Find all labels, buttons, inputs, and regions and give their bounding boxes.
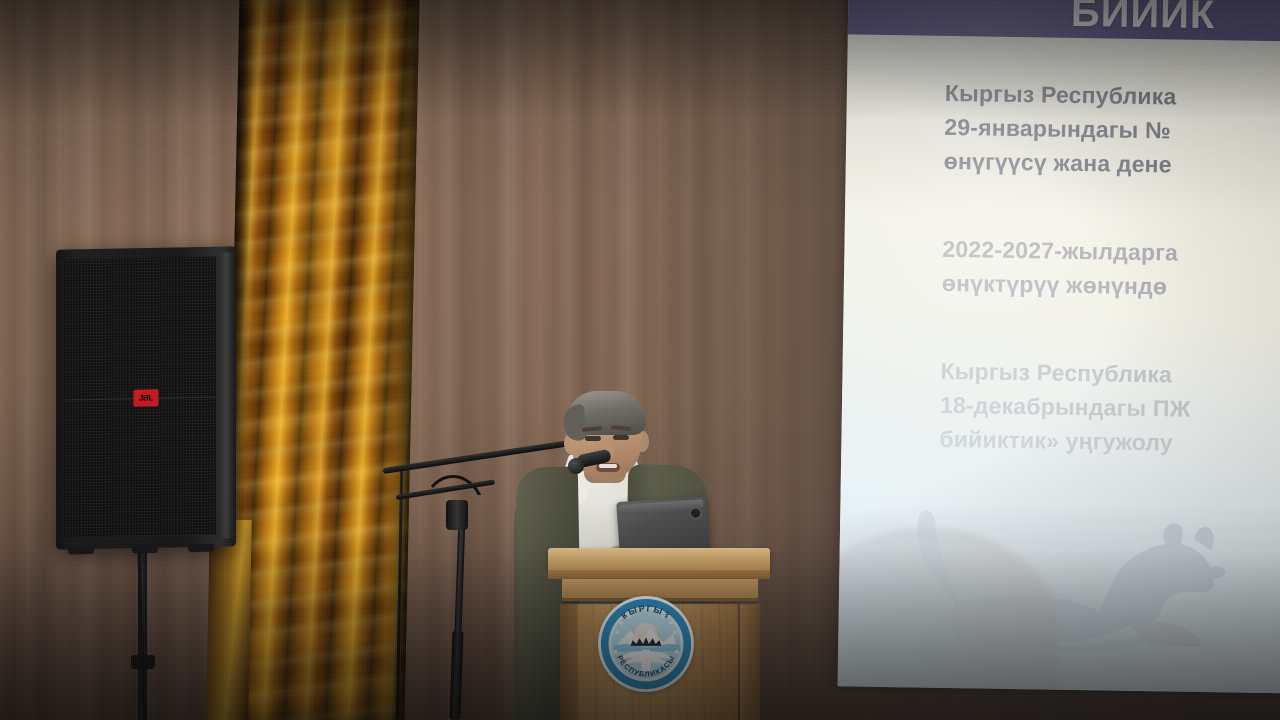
slide-paragraph-2: 2022-2027-жылдарга өнүктүрүү жөнүндө xyxy=(942,232,1280,306)
pa-loudspeaker: JBL xyxy=(56,246,236,549)
bottom-vignette xyxy=(0,550,1280,720)
slide-paragraph-3: Кыргыз Республика 18-декабрындагы ПЖ бий… xyxy=(939,354,1280,462)
slide-line: бийиктик» уңгужолу xyxy=(939,422,1280,462)
microphone-windscreen xyxy=(568,458,584,474)
jbl-logo-badge: JBL xyxy=(134,389,159,406)
slide-line: өнүктүрүү жөнүндө xyxy=(942,266,1280,306)
mic-stand-clutch xyxy=(446,500,468,530)
jbl-logo-text: JBL xyxy=(139,394,153,402)
eye-left xyxy=(585,436,601,441)
slide-line: өнүгүүсү жана дене xyxy=(944,144,1280,184)
eye-right xyxy=(613,435,629,440)
speaker-side-panel xyxy=(217,252,234,538)
photo-scene: БИЙИК Кыргыз Республика 29-январындагы №… xyxy=(0,0,1280,720)
top-vignette xyxy=(0,0,1280,120)
teeth xyxy=(599,464,617,468)
